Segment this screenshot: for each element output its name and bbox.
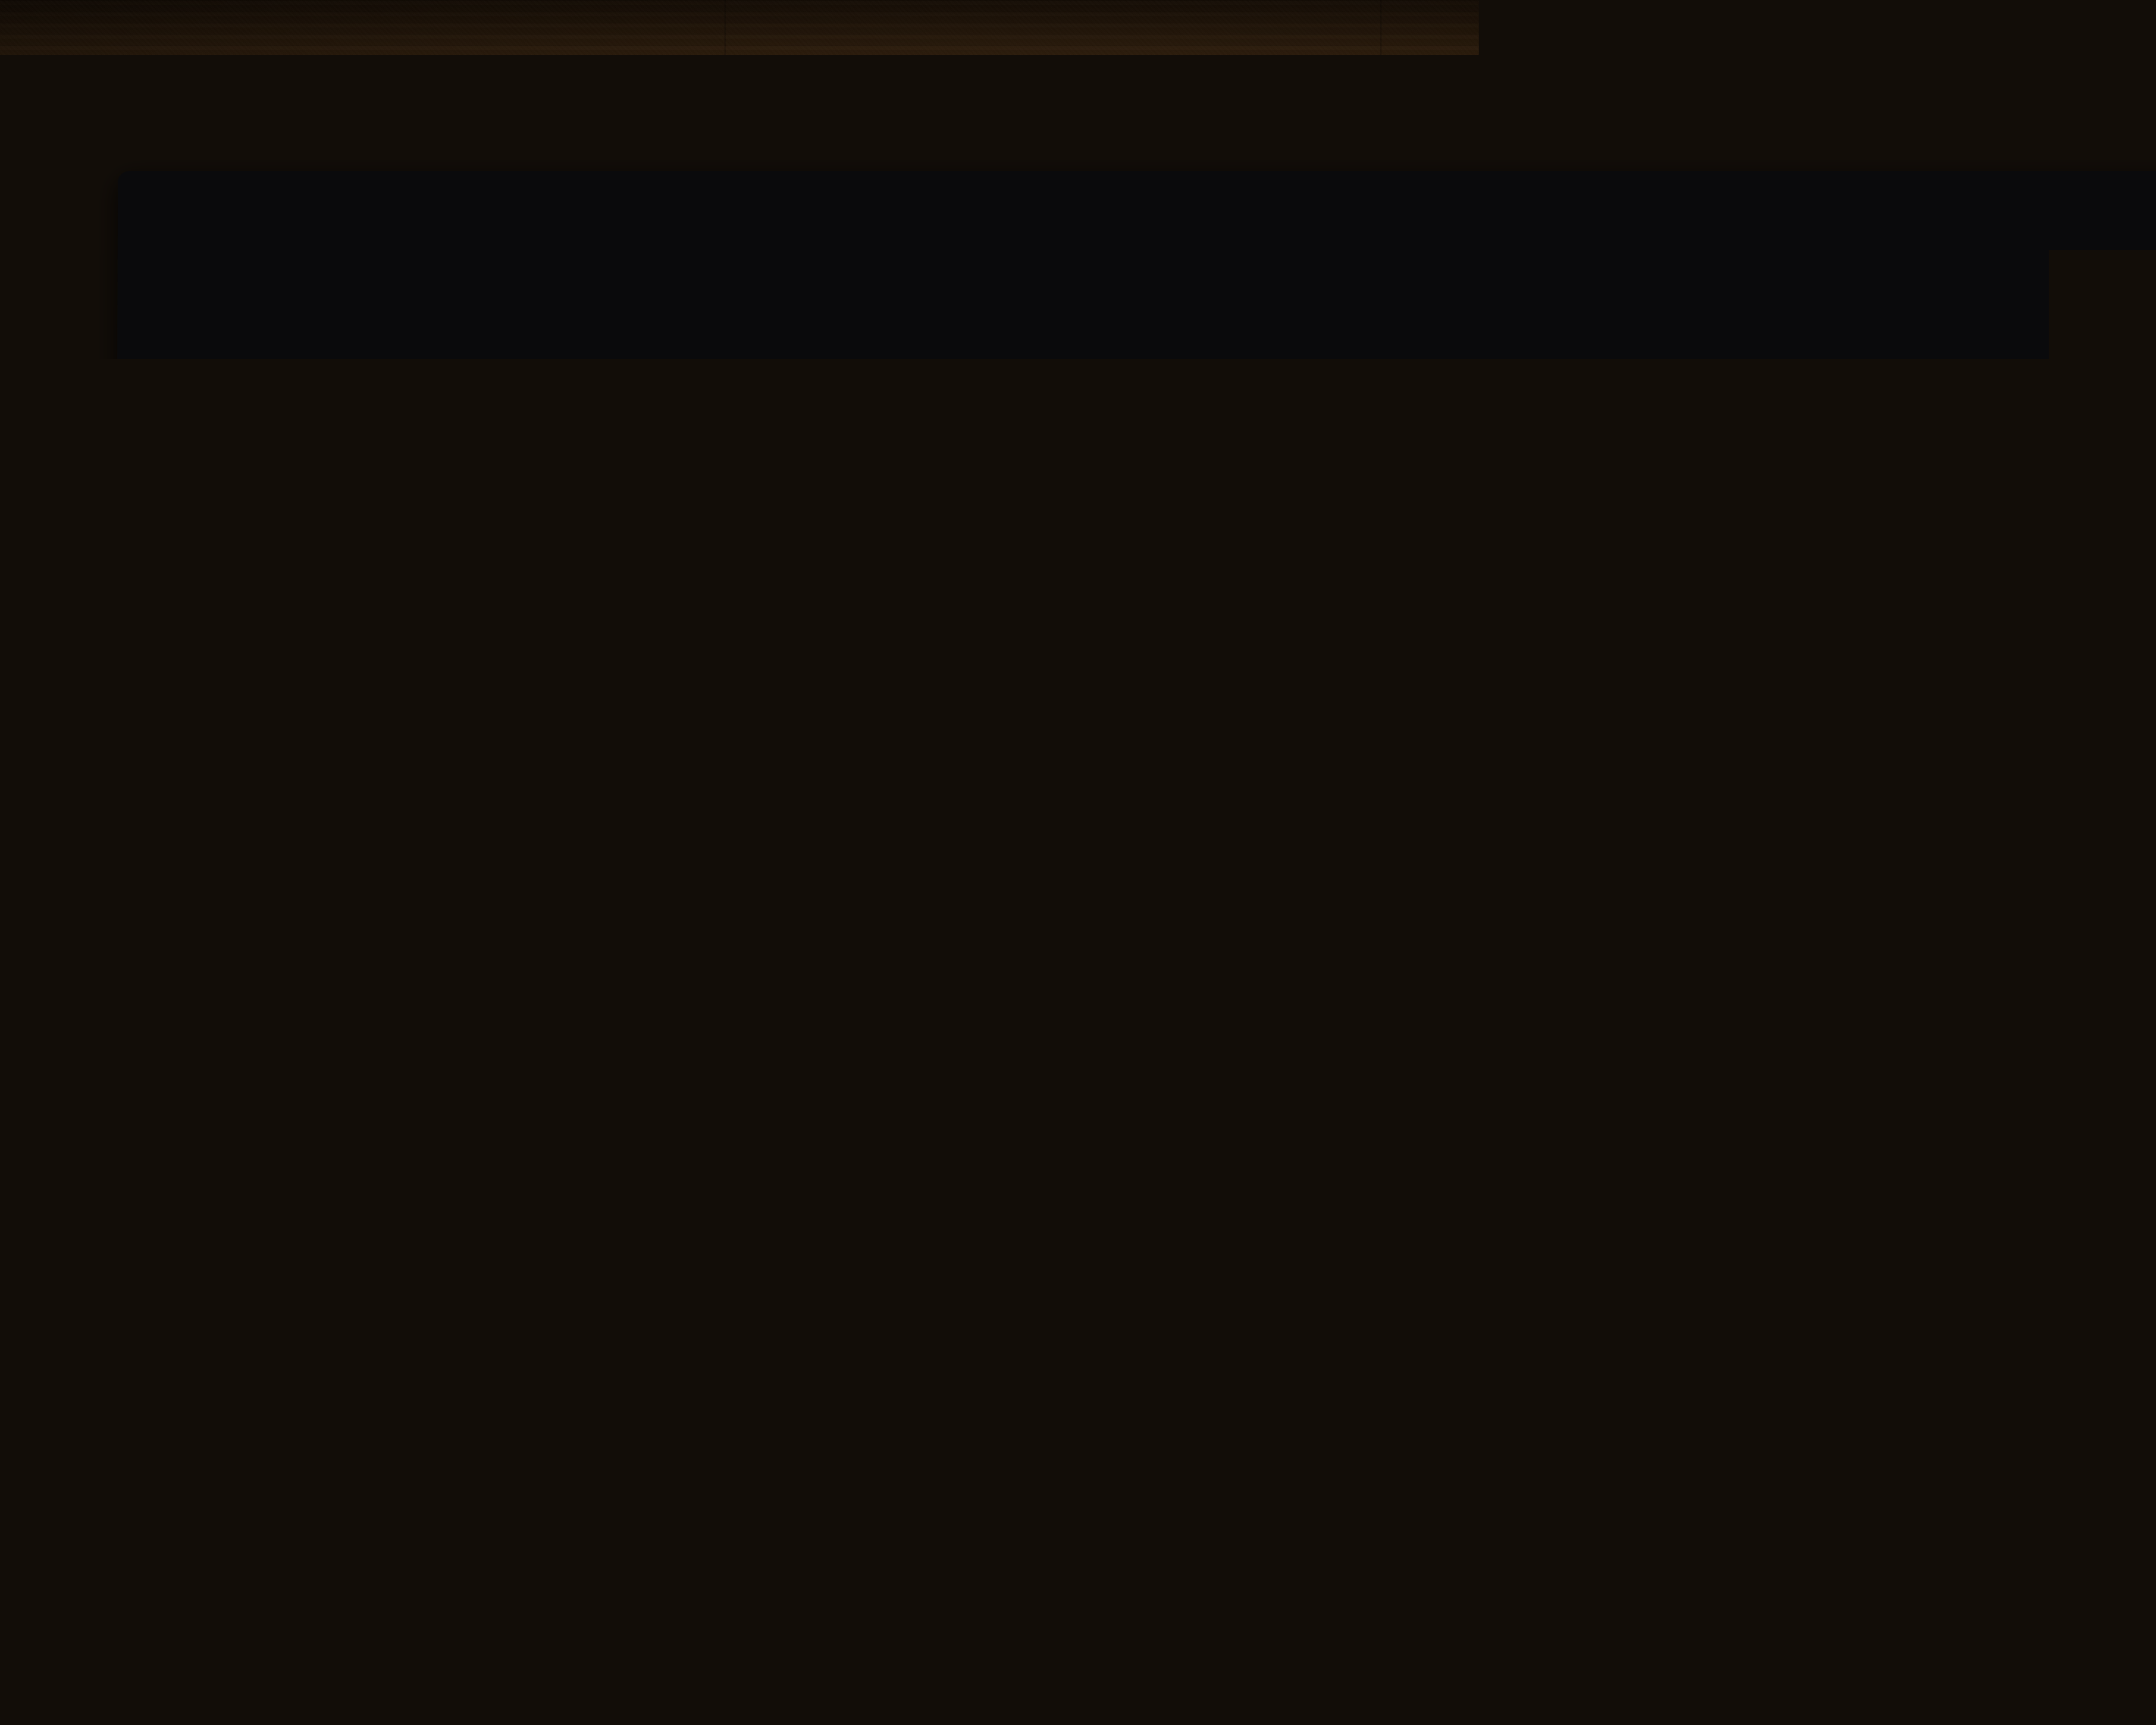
camera-button[interactable]: ▣摄像	[59, 1288, 85, 1309]
window-grid-button[interactable]: ⊞窗帘	[59, 1070, 85, 1091]
projector-status-leds	[2121, 127, 2155, 131]
slide-background: 博学楼 SLE	[138, 212, 2156, 1465]
button-sublabel: 左	[60, 1207, 85, 1211]
screen-icon: ▭	[67, 1051, 78, 1063]
projector-vent-grille	[1974, 27, 2156, 138]
window-grid-icon: ⊞	[67, 1076, 77, 1087]
slide-logo: SLE 375 劳动经济学院 School of Labor Economics	[1903, 237, 2156, 302]
next-button[interactable]: ❯右	[59, 1215, 85, 1236]
slide-subtitle-block: 劳动经济学院 2024年9月4日	[138, 1195, 2156, 1301]
button-sublabel: 设置	[60, 1280, 85, 1283]
projected-slide-area: 博学楼 SLE	[138, 212, 2156, 1465]
keypad-icon: ▦	[67, 1269, 78, 1280]
button-sublabel: 锁定	[60, 1110, 85, 1114]
lock-button[interactable]: 🔒锁定	[59, 1095, 85, 1116]
logo-name-cn: 劳动经济学院	[1980, 239, 2156, 281]
slide-title: 2024年秋季学期工作部署暨科研能力提升会	[139, 769, 2156, 862]
projector-body: PROJECTOR	[1935, 13, 2156, 168]
birds-decoration	[2044, 925, 2156, 1138]
chalk-rail	[0, 1000, 91, 1007]
wall-ledge	[0, 1695, 2156, 1704]
projection-screen: 博学楼 SLE	[116, 170, 2156, 1589]
school-seal-icon: SLE 375	[1903, 237, 1968, 302]
lock-icon: 🔒	[65, 1100, 79, 1111]
button-sublabel: 降	[60, 1183, 85, 1187]
chalkboard	[0, 181, 88, 1552]
slide-date: 2024年9月4日	[1177, 1253, 1438, 1301]
port-hdmi	[2116, 78, 2128, 95]
classroom-scene: ⏻电源 ▭幕布 ⊞窗帘 🔒锁定 ⎙升 ⎙停 ⎙降 ❮左 ❯右 ▤音量 ▦设置 ▣…	[0, 0, 2156, 1725]
screen-up-button[interactable]: ⎙升	[59, 1119, 85, 1140]
button-sublabel: 摄像	[60, 1304, 85, 1308]
screen-stop-button[interactable]: ⎙停	[59, 1143, 85, 1164]
button-sublabel: 右	[60, 1231, 85, 1235]
logo-name-en: School of Labor Economics	[1980, 282, 2156, 300]
ceiling-projector: PROJECTOR	[1927, 3, 2156, 176]
screen-down-button[interactable]: ▭幕布	[59, 1046, 85, 1067]
wall-control-panel[interactable]: ⏻电源 ▭幕布 ⊞窗帘 🔒锁定 ⎙升 ⎙停 ⎙降 ❮左 ❯右 ▤音量 ▦设置 ▣…	[55, 1022, 89, 1341]
ceiling-shadow	[0, 0, 2156, 185]
light-streak	[791, 212, 2156, 999]
volume-icon: ▤	[67, 1245, 78, 1256]
projector-brand-label: PROJECTOR	[2065, 150, 2116, 157]
screen-lower-button[interactable]: ⎙降	[59, 1167, 85, 1188]
button-sublabel: 窗帘	[60, 1086, 85, 1090]
chevron-right-icon: ❯	[67, 1220, 77, 1232]
prev-button[interactable]: ❮左	[59, 1191, 85, 1212]
projector-osd-overlay[interactable]: WI E万讯 Shadow Mode	[2143, 212, 2156, 335]
port-vga	[2137, 98, 2152, 107]
projector-port-bank	[2116, 78, 2156, 130]
button-sublabel: 电源	[60, 1038, 85, 1042]
building-illustration	[1249, 875, 2156, 1465]
button-sublabel: 幕布	[60, 1062, 85, 1066]
volume-button[interactable]: ▤音量	[59, 1239, 85, 1261]
slide-organization: 劳动经济学院	[1196, 1195, 1419, 1243]
building-label: 博学楼	[2059, 1352, 2091, 1440]
button-sublabel: 音量	[60, 1255, 85, 1259]
button-sublabel: 升	[60, 1135, 85, 1138]
power-button[interactable]: ⏻电源	[59, 1022, 85, 1043]
wall-ledge	[0, 1613, 2156, 1621]
screen-stop-icon: ⎙	[68, 1148, 77, 1159]
chalk-rail	[0, 1509, 91, 1515]
button-sublabel: 停	[60, 1159, 85, 1163]
chevron-left-icon: ❮	[67, 1196, 77, 1207]
camera-icon: ▣	[67, 1293, 78, 1304]
screen-down-icon: ⎙	[68, 1172, 77, 1183]
keypad-button[interactable]: ▦设置	[59, 1264, 85, 1285]
seal-shield: SLE 375	[1919, 250, 1952, 289]
screen-up-icon: ⎙	[68, 1124, 77, 1135]
power-icon: ⏻	[68, 1027, 77, 1038]
